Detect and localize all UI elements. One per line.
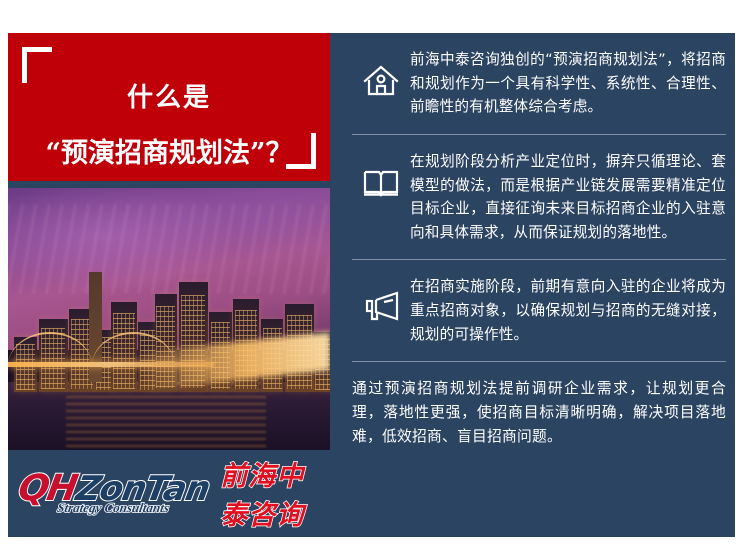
megaphone-icon xyxy=(352,279,410,337)
content-block-1-text: 前海中泰咨询独创的“预演招商规划法”，将招商和规划作为一个具有科学性、系统性、合… xyxy=(410,48,726,119)
content-block-3-text: 在招商实施阶段，前期有意向入驻的企业将成为重点招商对象，以确保规划与招商的无缝对… xyxy=(410,275,726,346)
logo-tagline: Strategy Consultants xyxy=(56,502,170,514)
title-card: 什么是 “预演招商规划法”？ xyxy=(8,33,330,181)
content-block-1: 前海中泰咨询独创的“预演招商规划法”，将招商和规划作为一个具有科学性、系统性、合… xyxy=(352,48,726,135)
content-block-3: 在招商实施阶段，前期有意向入驻的企业将成为重点招商对象，以确保规划与招商的无缝对… xyxy=(352,260,726,362)
slide-root: 什么是 “预演招商规划法”？ xyxy=(0,0,743,555)
content-block-4-text: 通过预演招商规划法提前调研企业需求，让规划更合理，落地性更强，使招商目标清晰明确… xyxy=(352,377,726,449)
content-block-4: 通过预演招商规划法提前调研企业需求，让规划更合理，落地性更强，使招商目标清晰明确… xyxy=(352,362,726,464)
title-line-two: “预演招商规划法”？ xyxy=(8,131,330,170)
content-block-2-text: 在规划阶段分析产业定位时，摒弃只循理论、套模型的做法，而是根据产业链发展需要精准… xyxy=(410,150,726,245)
house-icon xyxy=(352,52,410,110)
content-blocks: 前海中泰咨询独创的“预演招商规划法”，将招商和规划作为一个具有科学性、系统性、合… xyxy=(352,48,726,464)
title-line-one: 什么是 xyxy=(8,77,330,114)
content-block-2: 在规划阶段分析产业定位时，摒弃只循理论、套模型的做法，而是根据产业链发展需要精准… xyxy=(352,135,726,261)
open-book-icon xyxy=(352,154,410,212)
city-skyline-photo xyxy=(8,188,330,450)
company-logo: QH ZonTan Strategy Consultants 前海中泰咨询 xyxy=(18,464,328,522)
logo-mark: QH ZonTan Strategy Consultants xyxy=(14,472,212,514)
photo-skyline xyxy=(8,267,330,393)
logo-chinese-name: 前海中泰咨询 xyxy=(220,454,328,532)
